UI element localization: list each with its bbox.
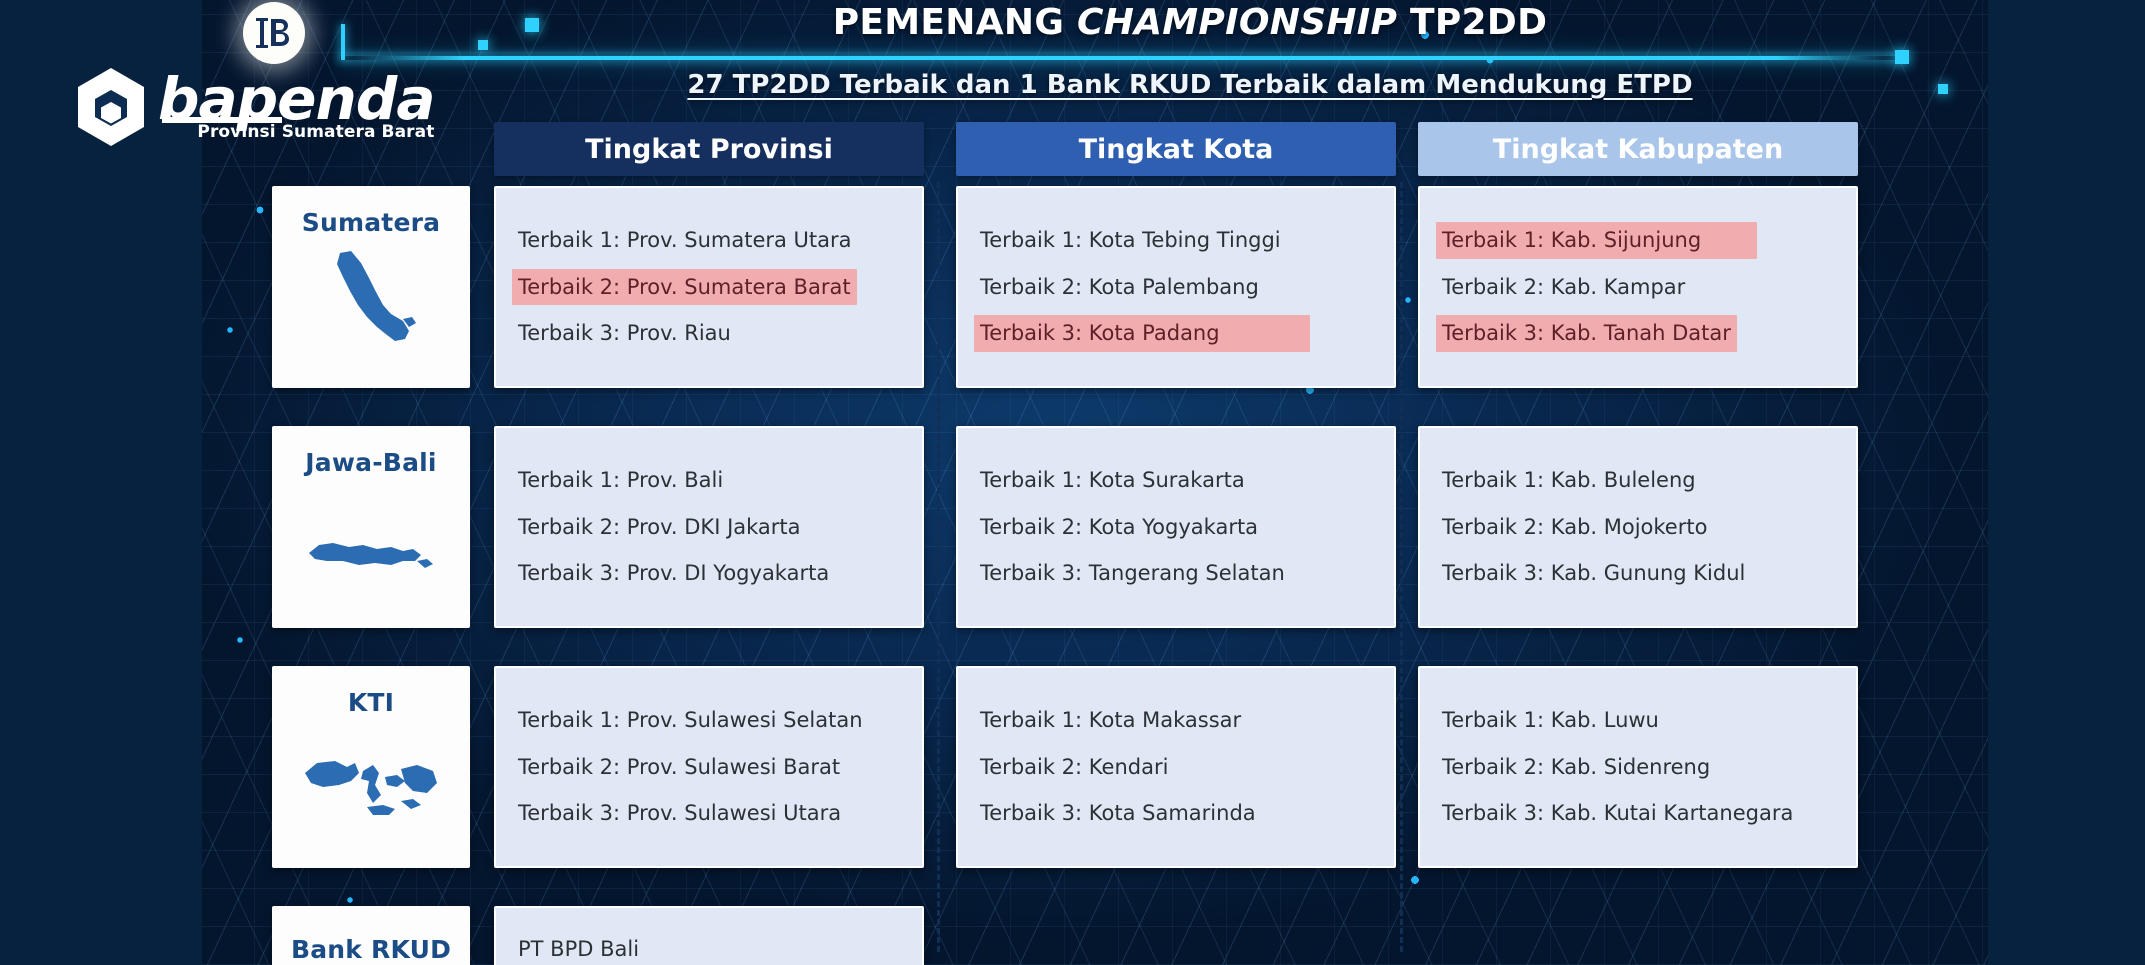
- bapenda-underline: [162, 117, 282, 123]
- cell-sumatera-provinsi: Terbaik 1: Prov. Sumatera Utara Terbaik …: [494, 186, 924, 388]
- winner-entry-highlighted: Terbaik 3: Kota Padang: [974, 315, 1310, 352]
- cell-jawabali-kabupaten: Terbaik 1: Kab. Buleleng Terbaik 2: Kab.…: [1418, 426, 1858, 628]
- winner-entry: Terbaik 1: Prov. Bali: [512, 462, 729, 499]
- jawa-bali-map-icon: [305, 531, 437, 575]
- winner-entry: Terbaik 3: Kab. Gunung Kidul: [1436, 555, 1751, 592]
- winner-entry: Terbaik 1: Kota Makassar: [974, 702, 1247, 739]
- region-label: Jawa-Bali: [305, 448, 436, 477]
- cell-sumatera-kabupaten: Terbaik 1: Kab. Sijunjung Terbaik 2: Kab…: [1418, 186, 1858, 388]
- winner-entry: Terbaik 3: Kota Samarinda: [974, 795, 1262, 832]
- table-row-bank-rkud: Bank RKUD PT BPD Bali: [272, 906, 1892, 965]
- winner-entry: Terbaik 2: Kab. Sidenreng: [1436, 749, 1716, 786]
- table-row: Jawa-Bali Terbaik 1: Prov. Bali Terbaik …: [272, 426, 1892, 628]
- column-header-kabupaten[interactable]: Tingkat Kabupaten: [1418, 122, 1858, 176]
- cell-sumatera-kota: Terbaik 1: Kota Tebing Tinggi Terbaik 2:…: [956, 186, 1396, 388]
- winner-entry: Terbaik 2: Prov. Sulawesi Barat: [512, 749, 846, 786]
- table-row: Sumatera Terbaik 1: Prov. Sumatera Utara…: [272, 186, 1892, 388]
- region-card-sumatera[interactable]: Sumatera: [272, 186, 470, 388]
- winner-entry: Terbaik 3: Prov. Riau: [512, 315, 737, 352]
- winner-entry: Terbaik 2: Prov. DKI Jakarta: [512, 509, 807, 546]
- column-divider-dashed: [937, 182, 940, 952]
- page-subtitle: 27 TP2DD Terbaik dan 1 Bank RKUD Terbaik…: [440, 70, 1940, 100]
- bapenda-logo: bapenda Provinsi Sumatera Barat: [74, 66, 434, 148]
- winner-entry: PT BPD Bali: [512, 931, 645, 965]
- table-row: KTI Terbaik 1: Prov. Sulawesi Sel: [272, 666, 1892, 868]
- winner-entry: Terbaik 3: Kab. Kutai Kartanegara: [1436, 795, 1799, 832]
- cell-kti-kabupaten: Terbaik 1: Kab. Luwu Terbaik 2: Kab. Sid…: [1418, 666, 1858, 868]
- column-header-kota[interactable]: Tingkat Kota: [956, 122, 1396, 176]
- region-card-kti[interactable]: KTI: [272, 666, 470, 868]
- slide-canvas: bapenda Provinsi Sumatera Barat PEMENANG…: [0, 0, 2145, 965]
- winner-entry-highlighted: Terbaik 1: Kab. Sijunjung: [1436, 222, 1757, 259]
- winner-entry: Terbaik 3: Prov. Sulawesi Utara: [512, 795, 847, 832]
- cyan-trace-vertical: [341, 24, 345, 60]
- winners-grid: Tingkat Provinsi Tingkat Kota Tingkat Ka…: [272, 122, 1892, 957]
- title-emphasis: CHAMPIONSHIP: [1077, 2, 1397, 43]
- winner-entry: Terbaik 3: Tangerang Selatan: [974, 555, 1291, 592]
- title-prefix: PEMENANG: [833, 2, 1077, 43]
- bank-indonesia-logo: [243, 2, 305, 64]
- winner-entry: Terbaik 2: Kab. Kampar: [1436, 269, 1691, 306]
- winner-entry-highlighted: Terbaik 2: Prov. Sumatera Barat: [512, 269, 857, 306]
- winner-entry: Terbaik 2: Kota Yogyakarta: [974, 509, 1264, 546]
- right-gutter: [1988, 0, 2145, 965]
- title-suffix: TP2DD: [1397, 2, 1547, 43]
- region-card-bank-rkud[interactable]: Bank RKUD: [272, 906, 470, 965]
- winner-entry: Terbaik 1: Prov. Sumatera Utara: [512, 222, 858, 259]
- winner-entry: Terbaik 1: Kota Surakarta: [974, 462, 1251, 499]
- bapenda-hex-icon: [74, 66, 148, 148]
- cyan-node-icon: [1895, 50, 1909, 64]
- winner-entry: Terbaik 3: Prov. DI Yogyakarta: [512, 555, 835, 592]
- winners-rows: Sumatera Terbaik 1: Prov. Sumatera Utara…: [272, 186, 1892, 965]
- winner-entry: Terbaik 1: Kab. Luwu: [1436, 702, 1665, 739]
- kti-map-icon: [301, 751, 441, 823]
- cyan-node-icon: [478, 40, 488, 50]
- cell-jawabali-kota: Terbaik 1: Kota Surakarta Terbaik 2: Kot…: [956, 426, 1396, 628]
- winner-entry: Terbaik 1: Kab. Buleleng: [1436, 462, 1702, 499]
- region-label: Sumatera: [302, 208, 440, 237]
- cell-kti-kota: Terbaik 1: Kota Makassar Terbaik 2: Kend…: [956, 666, 1396, 868]
- cell-jawabali-provinsi: Terbaik 1: Prov. Bali Terbaik 2: Prov. D…: [494, 426, 924, 628]
- winner-entry: Terbaik 2: Kota Palembang: [974, 269, 1265, 306]
- sumatera-map-icon: [317, 247, 425, 357]
- region-label: Bank RKUD: [291, 935, 451, 964]
- column-header-row: Tingkat Provinsi Tingkat Kota Tingkat Ka…: [272, 122, 1892, 180]
- cyan-trace-horizontal: [340, 56, 1900, 60]
- winner-entry: Terbaik 2: Kendari: [974, 749, 1174, 786]
- column-divider-dashed: [1400, 182, 1403, 952]
- region-label: KTI: [348, 688, 394, 717]
- page-title: PEMENANG CHAMPIONSHIP TP2DD: [490, 2, 1890, 43]
- bapenda-subtitle: Provinsi Sumatera Barat: [158, 122, 434, 142]
- winner-entry: Terbaik 1: Kota Tebing Tinggi: [974, 222, 1287, 259]
- cell-bank-rkud: PT BPD Bali: [494, 906, 924, 965]
- winner-entry-highlighted: Terbaik 3: Kab. Tanah Datar: [1436, 315, 1737, 352]
- column-header-provinsi[interactable]: Tingkat Provinsi: [494, 122, 924, 176]
- winner-entry: Terbaik 2: Kab. Mojokerto: [1436, 509, 1713, 546]
- winner-entry: Terbaik 1: Prov. Sulawesi Selatan: [512, 702, 869, 739]
- cell-kti-provinsi: Terbaik 1: Prov. Sulawesi Selatan Terbai…: [494, 666, 924, 868]
- region-card-jawa-bali[interactable]: Jawa-Bali: [272, 426, 470, 628]
